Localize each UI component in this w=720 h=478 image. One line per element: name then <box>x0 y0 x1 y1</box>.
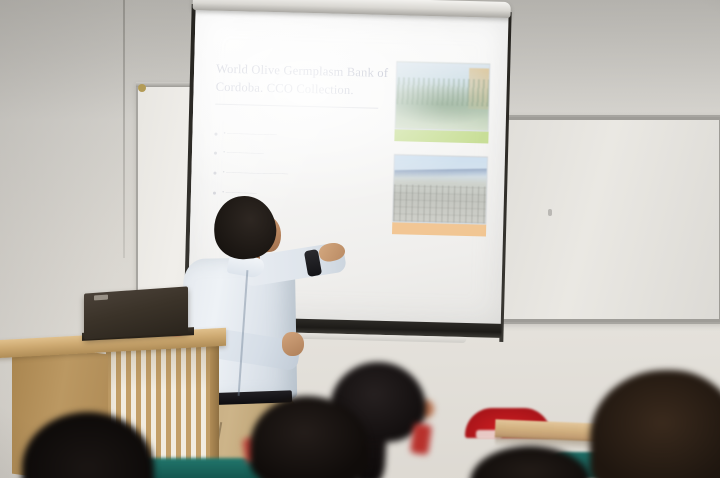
slide-bullet-2: • —————— <box>214 150 384 161</box>
slide-figure-top-caption <box>394 129 488 143</box>
slide-figure-top <box>394 61 490 143</box>
slide-bullet-1: • ———————— <box>214 130 384 141</box>
laptop-brand-logo <box>94 295 108 301</box>
lecture-presentation-photo: World Olive Germplasm Bank of Cordoba. C… <box>0 0 720 478</box>
olive-canopy-aerial-photo <box>395 61 491 131</box>
slide-figure-column <box>392 61 491 249</box>
slide-title: World Olive Germplasm Bank of Cordoba. C… <box>215 61 391 101</box>
slide-title-rule <box>215 103 378 108</box>
presenter-left-fist <box>282 332 304 356</box>
slide-figure-bottom <box>392 154 488 236</box>
presenter-laptop <box>84 290 188 340</box>
whiteboard-left-mount-knob <box>138 84 146 92</box>
slide-figure-bottom-caption <box>392 222 486 236</box>
olive-grove-field-photo <box>392 154 488 224</box>
whiteboard-right-frame <box>486 117 720 322</box>
slide-bullet-3: • —————————— <box>213 170 383 181</box>
whiteboard-right-marker-holder <box>548 209 552 216</box>
slide-bullet-list: • ———————— • —————— • —————————— • ————— <box>213 130 385 201</box>
whiteboard-right <box>484 115 720 324</box>
wall-panel-seam <box>123 0 125 258</box>
